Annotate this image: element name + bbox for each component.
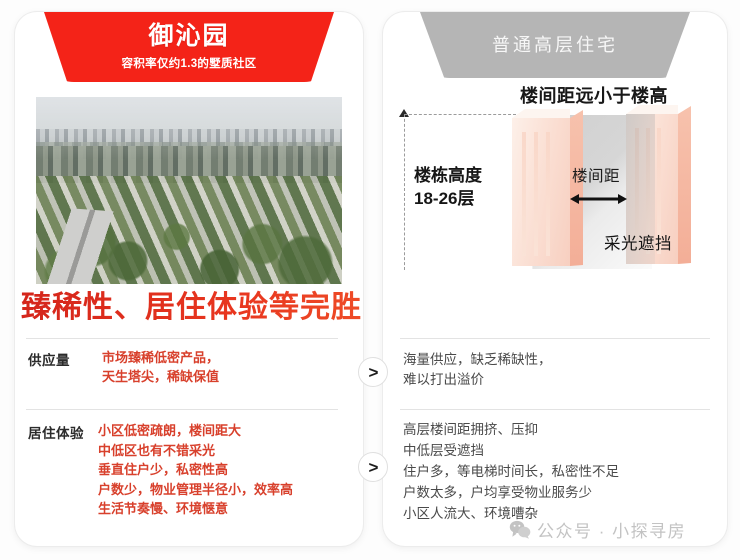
compare-arrow-chip-living[interactable]: > [358, 452, 388, 482]
chevron-right-icon: > [369, 364, 379, 381]
height-guide-horizontal [404, 114, 516, 115]
comparison-infographic: 御沁园 容积率仅约1.3的墅质社区 普通高层住宅 臻稀性、居住体验等完胜 楼间距… [0, 0, 740, 560]
building-gap-label: 楼间距 [572, 164, 620, 186]
right-row-living-lines: 高层楼间距拥挤、压抑 中低层受遮挡 住户多，等电梯时间长，私密性不足 户数太多，… [403, 419, 619, 524]
tower-left-window-strip [534, 132, 538, 256]
aerial-community-photo [36, 97, 342, 284]
left-divider-bottom [26, 409, 338, 410]
list-item: 海量供应，缺乏稀缺性， [403, 350, 552, 370]
gap-double-arrow-icon [570, 194, 627, 204]
list-item: 生活节奏慢、环境惬意 [98, 499, 293, 519]
right-card-banner: 普通高层住宅 [420, 12, 690, 78]
list-item: 住户多，等电梯时间长，私密性不足 [403, 461, 619, 482]
list-item: 天生塔尖，稀缺保值 [102, 367, 219, 386]
left-row-supply-lines: 市场臻稀低密产品， 天生塔尖，稀缺保值 [102, 348, 219, 386]
left-row-supply-label: 供应量 [28, 348, 92, 369]
tower-left-window-strip [522, 132, 526, 256]
right-row-living: 高层楼间距拥挤、压抑 中低层受遮挡 住户多，等电梯时间长，私密性不足 户数太多，… [403, 419, 715, 524]
right-divider-bottom [400, 409, 710, 410]
building-height-line2: 18-26层 [414, 187, 482, 210]
project-name: 御沁园 [148, 23, 229, 50]
list-item: 中低层受遮挡 [403, 440, 619, 461]
list-item: 小区低密疏朗，楼间距大 [98, 421, 293, 441]
height-guide-vertical [404, 114, 405, 270]
list-item: 垂直住户少，私密性高 [98, 460, 293, 480]
right-row-supply-lines: 海量供应，缺乏稀缺性， 难以打出溢价 [403, 350, 552, 390]
right-row-supply: 海量供应，缺乏稀缺性， 难以打出溢价 [403, 350, 703, 390]
tower-left-window-strip [546, 132, 550, 256]
building-height-label: 楼栋高度 18-26层 [414, 164, 482, 210]
wechat-icon [509, 520, 531, 539]
light-blocking-label: 采光遮挡 [604, 230, 672, 254]
tower-left-front [512, 118, 570, 266]
list-item: 市场臻稀低密产品， [102, 348, 219, 367]
diagram-title: 楼间距远小于楼高 [520, 82, 668, 108]
photo-road [36, 205, 137, 284]
compare-arrow-chip-supply[interactable]: > [358, 357, 388, 387]
page-title: 臻稀性、居住体验等完胜 [21, 282, 581, 326]
project-subtitle: 容积率仅约1.3的墅质社区 [122, 55, 257, 71]
left-divider-top [26, 338, 338, 339]
watermark: 公众号 · 小探寻房 [509, 517, 686, 542]
watermark-text: 公众号 · 小探寻房 [537, 517, 686, 542]
chevron-right-icon: > [369, 459, 379, 476]
left-row-living-lines: 小区低密疏朗，楼间距大 中低区也有不错采光 垂直住户少，私密性高 户数少，物业管… [98, 421, 293, 519]
building-spacing-diagram: 楼间距远小于楼高 楼栋高度 18-26层 楼间距 [392, 82, 718, 276]
left-row-living: 居住体验 小区低密疏朗，楼间距大 中低区也有不错采光 垂直住户少，私密性高 户数… [28, 421, 340, 519]
comparison-name: 普通高层住宅 [492, 31, 618, 57]
tower-left-side [570, 110, 583, 266]
list-item: 高层楼间距拥挤、压抑 [403, 419, 619, 440]
left-card-banner: 御沁园 容积率仅约1.3的墅质社区 [44, 12, 334, 82]
list-item: 户数少，物业管理半径小，效率高 [98, 480, 293, 500]
list-item: 难以打出溢价 [403, 370, 552, 390]
tower-left [512, 118, 570, 266]
left-row-living-label: 居住体验 [28, 421, 92, 442]
tower-right-side [678, 106, 691, 264]
list-item: 中低区也有不错采光 [98, 441, 293, 461]
left-row-supply: 供应量 市场臻稀低密产品， 天生塔尖，稀缺保值 [28, 348, 328, 386]
photo-haze [36, 97, 342, 161]
list-item: 户数太多，户均享受物业服务少 [403, 482, 619, 503]
right-divider-top [400, 338, 710, 339]
building-height-line1: 楼栋高度 [414, 164, 482, 187]
